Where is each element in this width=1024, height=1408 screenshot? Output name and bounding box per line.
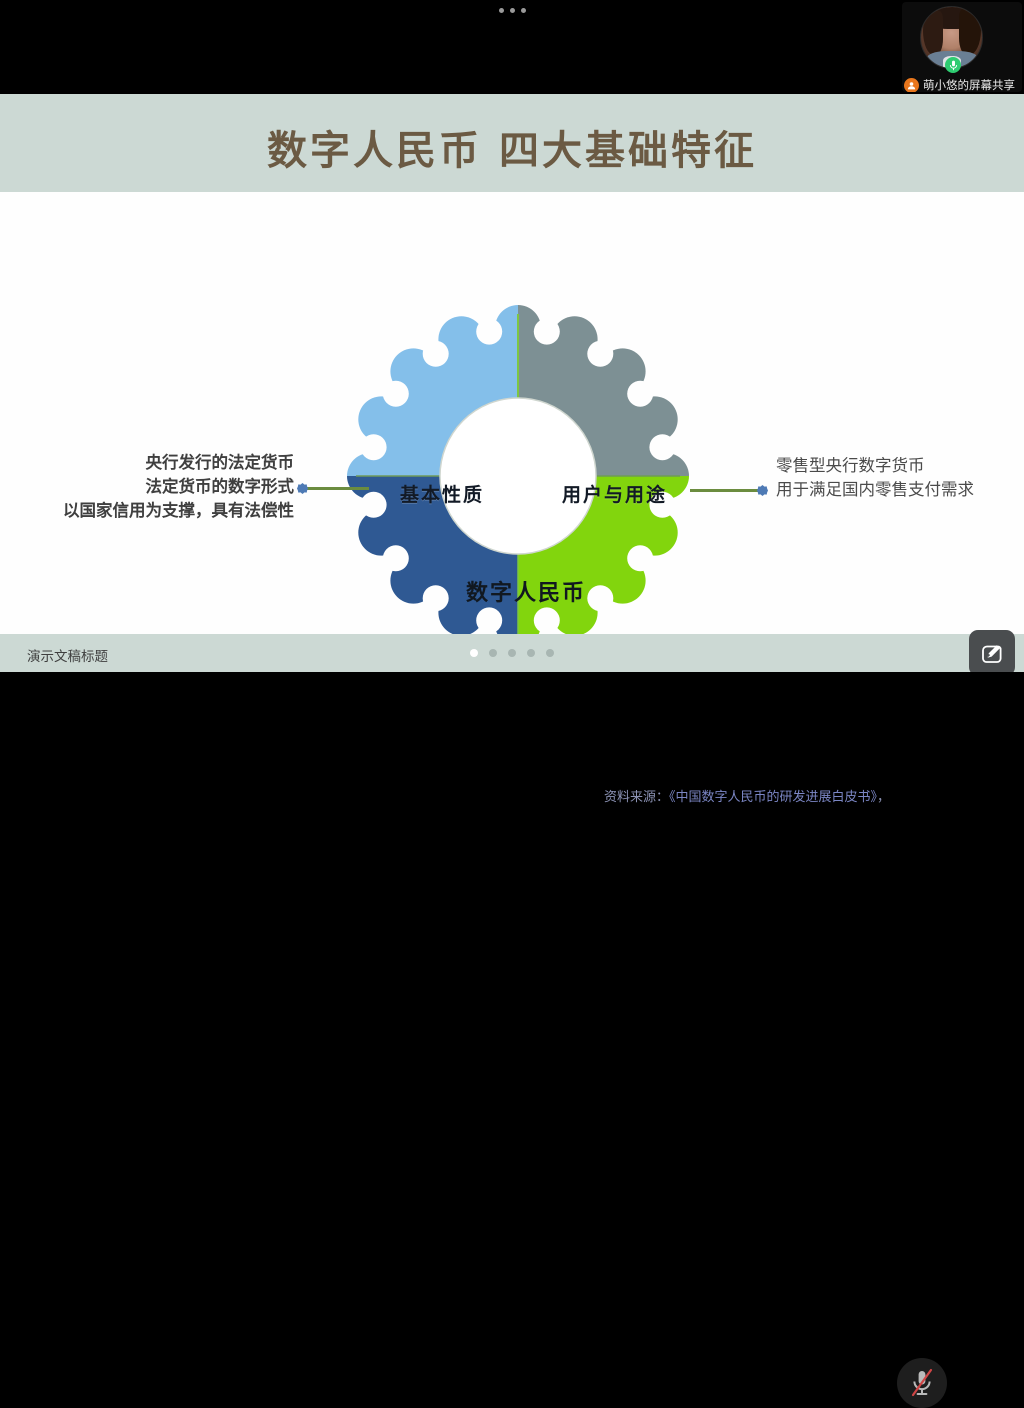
connector-node-icon <box>297 483 308 494</box>
callout-line: 以国家信用为支撑，具有法偿性 <box>4 499 294 523</box>
self-view-tile[interactable]: 萌小悠的屏幕共享 <box>902 2 1022 92</box>
annotate-pen-icon <box>979 640 1005 666</box>
callout-basic-nature: 央行发行的法定货币 法定货币的数字形式 以国家信用为支撑，具有法偿性 <box>4 451 294 523</box>
slide-body: 基本性质 用户与用途 运营方式 主要定位 数字人民币 央行发行的法定货币 法定货… <box>0 192 1024 634</box>
avatar-hair-left <box>923 11 943 55</box>
microphone-muted-icon <box>909 1368 935 1398</box>
connector-line <box>690 489 759 492</box>
slide-footer-band: 演示文稿标题 <box>0 634 1024 672</box>
connector-line <box>306 487 369 490</box>
callout-line: 用于满足国内零售支付需求 <box>776 478 974 502</box>
screen-share-indicator: 萌小悠的屏幕共享 <box>902 76 1022 92</box>
avatar-hair-right <box>959 9 981 55</box>
meeting-bottom-bar <box>0 672 1024 768</box>
connector-top-left <box>297 487 369 490</box>
slide-footer-title: 演示文稿标题 <box>27 645 108 665</box>
dot <box>521 8 526 13</box>
dot <box>499 8 504 13</box>
connector-node-icon <box>757 485 768 496</box>
pagination-dot-2[interactable] <box>489 649 497 657</box>
slide-title: 数字人民币 四大基础特征 <box>0 118 1024 176</box>
callout-users-uses: 零售型央行数字货币 用于满足国内零售支付需求 <box>776 454 974 502</box>
pagination-dot-1[interactable] <box>470 649 478 657</box>
dot <box>510 8 515 13</box>
microphone-active-icon <box>945 57 961 73</box>
screen-share-icon <box>904 78 919 93</box>
more-options-icon[interactable] <box>499 8 526 13</box>
screen-share-label: 萌小悠的屏幕共享 <box>923 77 1015 92</box>
presentation-slide[interactable]: 数字人民币 四大基础特征 <box>0 94 1024 672</box>
source-note: 资料来源：《中国数字人民币的研发进展白皮书》， <box>604 786 890 805</box>
source-prefix: 资料来源： <box>604 790 669 805</box>
callout-line: 央行发行的法定货币 <box>4 451 294 475</box>
microphone-glyph <box>949 60 958 71</box>
connector-top-right <box>690 489 768 492</box>
annotate-button[interactable] <box>969 630 1015 676</box>
pagination-dot-3[interactable] <box>508 649 516 657</box>
source-book: 《中国数字人民币的研发进展白皮书》 <box>669 790 877 805</box>
meeting-top-bar: 萌小悠的屏幕共享 <box>0 0 1024 94</box>
slide-pagination[interactable] <box>470 649 554 657</box>
pagination-dot-4[interactable] <box>527 649 535 657</box>
source-suffix: ， <box>877 790 890 805</box>
callout-line: 零售型央行数字货币 <box>776 454 974 478</box>
pagination-dot-5[interactable] <box>546 649 554 657</box>
gear-label-basic-nature: 基本性质 <box>400 480 484 507</box>
person-glyph <box>907 81 916 90</box>
microphone-mute-button[interactable] <box>897 1358 947 1408</box>
gear-center-label: 数字人民币 <box>466 575 586 607</box>
gear-hub <box>440 398 596 554</box>
gear-label-users-uses: 用户与用途 <box>562 480 667 507</box>
callout-line: 法定货币的数字形式 <box>4 475 294 499</box>
